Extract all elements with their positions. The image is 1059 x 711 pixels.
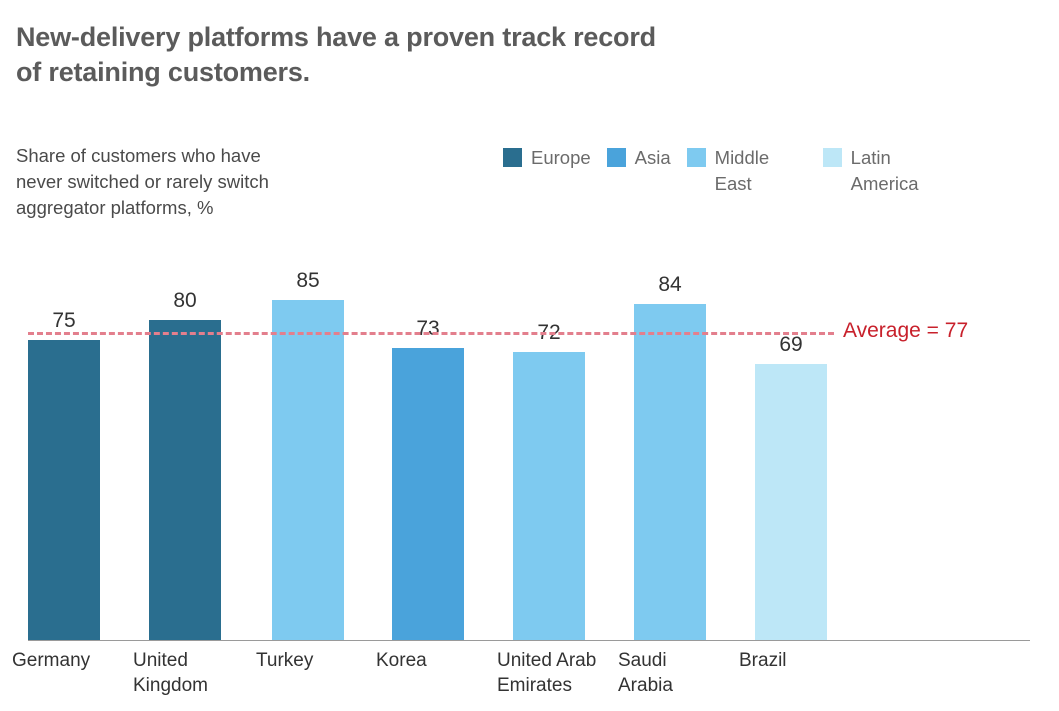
- bar[interactable]: [272, 300, 344, 640]
- x-axis-line: [28, 640, 1030, 641]
- bar-value-label: 75: [14, 309, 114, 333]
- bar-value-label: 84: [620, 273, 720, 297]
- bar[interactable]: [513, 352, 585, 640]
- bar[interactable]: [392, 348, 464, 640]
- x-axis-tick-label: United Arab Emirates: [497, 648, 601, 698]
- bar-value-label: 69: [741, 333, 841, 357]
- average-reference-label: Average = 77: [843, 319, 968, 343]
- bar[interactable]: [28, 340, 100, 640]
- x-axis-tick-label: Brazil: [739, 648, 843, 673]
- average-reference-line: [28, 332, 834, 335]
- x-axis-tick-label: Korea: [376, 648, 480, 673]
- x-axis-tick-label: Saudi Arabia: [618, 648, 722, 698]
- bar[interactable]: [149, 320, 221, 640]
- bar-chart-plot-area: 75808573728469 GermanyUnited KingdomTurk…: [0, 0, 1059, 711]
- bar-value-label: 80: [135, 289, 235, 313]
- bar[interactable]: [755, 364, 827, 640]
- bar-value-label: 85: [258, 269, 358, 293]
- x-axis-tick-label: Turkey: [256, 648, 360, 673]
- x-axis-tick-label: Germany: [12, 648, 116, 673]
- bar[interactable]: [634, 304, 706, 640]
- x-axis-tick-label: United Kingdom: [133, 648, 237, 698]
- bar-value-label: 73: [378, 317, 478, 341]
